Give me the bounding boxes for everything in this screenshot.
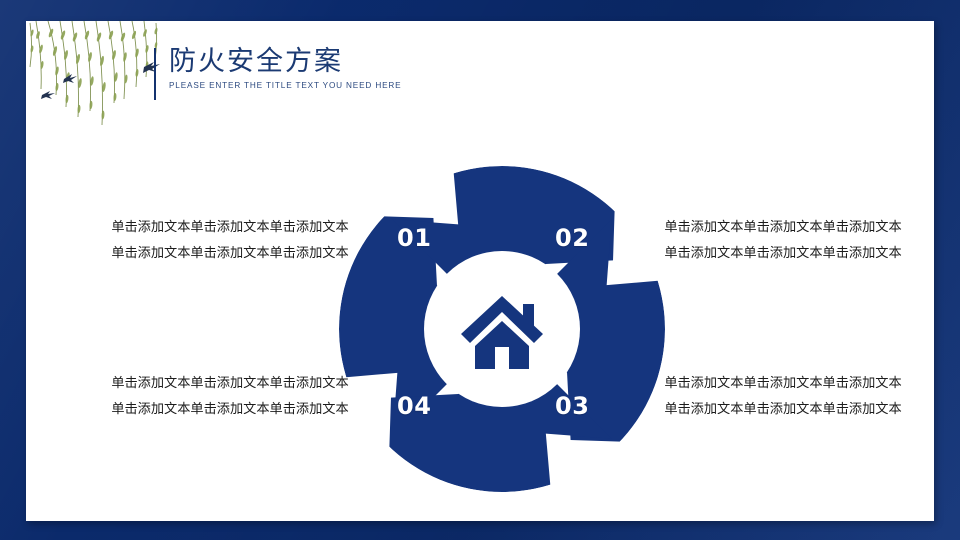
segment-label-01: 01 <box>397 224 431 252</box>
page-title: 防火安全方案 <box>169 45 401 79</box>
content-text-top-right[interactable]: 单击添加文本单击添加文本单击添加文本单击添加文本单击添加文本单击添加文本 <box>662 215 904 267</box>
slide-header: 防火安全方案 PLEASE ENTER THE TITLE TEXT YOU N… <box>154 45 401 100</box>
page-subtitle: PLEASE ENTER THE TITLE TEXT YOU NEED HER… <box>169 81 401 90</box>
content-text-bottom-right[interactable]: 单击添加文本单击添加文本单击添加文本单击添加文本单击添加文本单击添加文本 <box>662 371 904 423</box>
segment-label-02: 02 <box>555 224 589 252</box>
swallow-icon <box>41 62 160 99</box>
slide-canvas: 防火安全方案 PLEASE ENTER THE TITLE TEXT YOU N… <box>0 0 960 540</box>
cycle-diagram-svg <box>337 164 667 494</box>
content-text-bottom-left[interactable]: 单击添加文本单击添加文本单击添加文本单击添加文本单击添加文本单击添加文本 <box>109 371 351 423</box>
segment-label-04: 04 <box>397 392 431 420</box>
content-panel: 防火安全方案 PLEASE ENTER THE TITLE TEXT YOU N… <box>26 21 934 521</box>
segment-label-03: 03 <box>555 392 589 420</box>
content-text-top-left[interactable]: 单击添加文本单击添加文本单击添加文本单击添加文本单击添加文本单击添加文本 <box>109 215 351 267</box>
cycle-diagram: 01 02 03 04 <box>337 164 667 494</box>
title-divider <box>154 48 156 100</box>
